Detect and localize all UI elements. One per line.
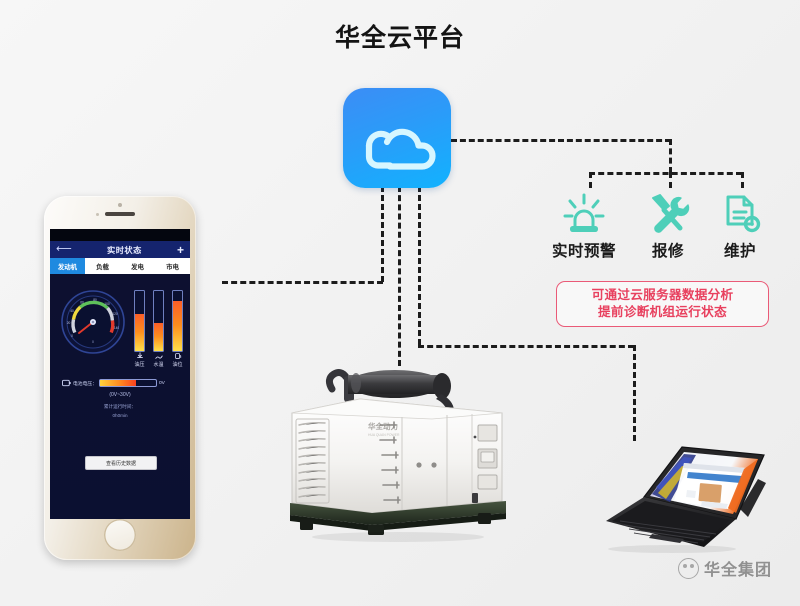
bar-oil-pressure	[134, 290, 145, 352]
bar-coolant-temp	[153, 290, 164, 352]
connector-service-1-drop	[589, 172, 592, 188]
bar-label-fuel-level: 油位	[172, 352, 183, 369]
connector-right-drop	[669, 139, 672, 173]
connector-cloud-right	[451, 139, 671, 142]
diagram-canvas: 华全云平台	[0, 0, 800, 606]
smartphone-device: ⟵ 实时状态 + 发动机 负载 发电 市电	[44, 196, 196, 560]
battery-track	[99, 379, 157, 387]
status-bar	[50, 229, 190, 241]
document-gear-icon	[704, 188, 776, 236]
hammer-wrench-icon	[632, 188, 704, 236]
battery-icon	[62, 379, 71, 387]
note-line-1: 可通过云服务器数据分析	[592, 287, 734, 304]
connector-laptop-vert-b	[633, 345, 636, 441]
watermark: 华全集团	[678, 556, 772, 580]
svg-text:HUA QUAN POWER: HUA QUAN POWER	[368, 433, 400, 437]
back-arrow-icon[interactable]: ⟵	[56, 244, 72, 255]
runtime-value: 0h0min	[50, 413, 190, 418]
connector-laptop-vert-a	[418, 186, 421, 345]
bar-fuel-level	[172, 290, 183, 352]
home-button[interactable]	[104, 519, 136, 551]
battery-value: 0V	[159, 381, 165, 386]
app-title: 实时状态	[107, 244, 142, 256]
svg-text:0: 0	[92, 340, 94, 344]
svg-text:100: 100	[104, 302, 110, 306]
service-label: 维护	[704, 239, 776, 261]
app-header: ⟵ 实时状态 +	[50, 241, 190, 258]
earpiece-speaker	[105, 212, 135, 216]
svg-text:60: 60	[80, 301, 84, 305]
svg-text:0: 0	[71, 334, 73, 338]
plus-icon[interactable]: +	[177, 244, 184, 256]
svg-text:120: 120	[112, 312, 118, 316]
service-maintenance[interactable]: 维护	[704, 188, 776, 261]
battery-label: 电池电压：	[73, 380, 97, 387]
bar-gauges: 油压 水温	[134, 284, 184, 368]
note-line-2: 提前诊断机组运行状态	[598, 304, 727, 321]
alarm-light-icon	[548, 188, 620, 236]
front-camera-icon	[118, 203, 122, 207]
tab-load[interactable]: 负载	[85, 258, 120, 274]
tab-engine[interactable]: 发动机	[50, 258, 85, 274]
watermark-text: 华全集团	[704, 556, 772, 580]
phone-screen: ⟵ 实时状态 + 发动机 负载 发电 市电	[50, 229, 190, 519]
tab-mains[interactable]: 市电	[155, 258, 190, 274]
connector-laptop-horz	[418, 345, 634, 348]
connector-phone-vert	[381, 186, 384, 282]
svg-text:40: 40	[70, 309, 74, 313]
battery-fill	[100, 380, 136, 386]
bar-label-coolant-temp: 水温	[153, 352, 164, 369]
connector-phone-horz	[222, 281, 383, 284]
battery-range: (0V~30V)	[50, 392, 190, 398]
dashboard-panel: 0 20 40 60 80 100 120 140	[50, 274, 190, 519]
svg-text:20: 20	[67, 321, 71, 325]
svg-text:140: 140	[114, 326, 120, 330]
phone-top-bezel	[44, 196, 196, 229]
service-label: 实时预警	[548, 239, 620, 261]
connector-generator-vert	[398, 186, 401, 366]
tab-generate[interactable]: 发电	[120, 258, 155, 274]
huaquan-logo-icon	[678, 558, 699, 579]
tab-bar: 发动机 负载 发电 市电	[50, 258, 190, 274]
bar-label-oil-pressure: 油压	[134, 352, 145, 369]
laptop-tablet-device	[596, 435, 792, 555]
service-realtime-alert[interactable]: 实时预警	[548, 188, 620, 261]
cloud-analysis-note: 可通过云服务器数据分析 提前诊断机组运行状态	[556, 281, 769, 327]
speed-gauge: 0 20 40 60 80 100 120 140	[59, 288, 127, 356]
runtime-label: 累计运行时间：	[50, 404, 190, 410]
connector-service-3-drop	[741, 172, 744, 188]
service-repair-request[interactable]: 报修	[632, 188, 704, 261]
battery-voltage-row: 电池电压： 0V	[62, 379, 180, 387]
connector-services-bus	[589, 172, 742, 175]
page-title: 华全云平台	[0, 18, 800, 54]
diesel-generator-set: 华全动力 HUA QUAN POWER	[282, 353, 514, 545]
service-label: 报修	[632, 239, 704, 261]
cloud-platform-icon[interactable]	[343, 88, 451, 188]
proximity-sensor-icon	[96, 213, 99, 216]
svg-text:80: 80	[93, 298, 97, 302]
history-data-button[interactable]: 查看历史数据	[85, 456, 157, 470]
connector-service-2-drop	[669, 172, 672, 188]
